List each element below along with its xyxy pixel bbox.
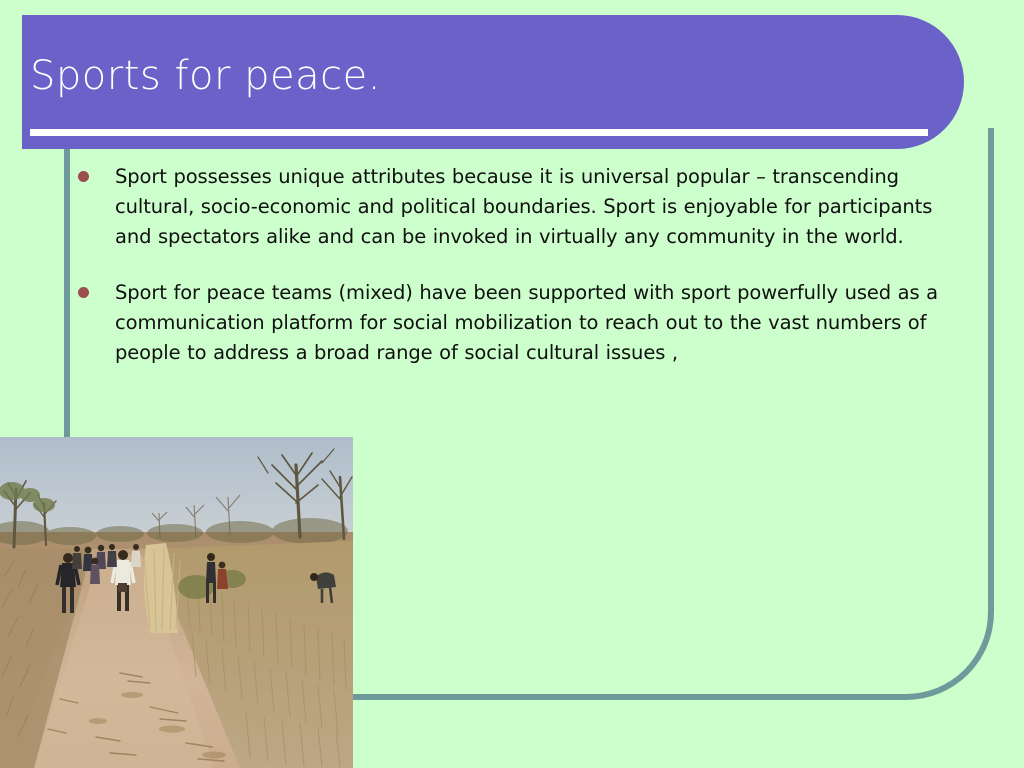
title-underline-rule xyxy=(30,129,928,136)
slide-canvas: Sports for peace. Sport possesses unique… xyxy=(0,0,1024,768)
bullet-icon xyxy=(78,171,89,182)
list-item-text: Sport possesses unique attributes becaus… xyxy=(115,162,958,252)
list-item-text: Sport for peace teams (mixed) have been … xyxy=(115,278,958,368)
savanna-path-image xyxy=(0,437,353,768)
list-item: Sport for peace teams (mixed) have been … xyxy=(78,278,958,368)
page-title: Sports for peace. xyxy=(30,53,381,99)
list-item: Sport possesses unique attributes becaus… xyxy=(78,162,958,252)
title-bar: Sports for peace. xyxy=(22,15,964,149)
slide-photo xyxy=(0,437,353,768)
bullet-icon xyxy=(78,287,89,298)
frame-vertical-line xyxy=(64,120,70,440)
body-content: Sport possesses unique attributes becaus… xyxy=(78,162,958,394)
